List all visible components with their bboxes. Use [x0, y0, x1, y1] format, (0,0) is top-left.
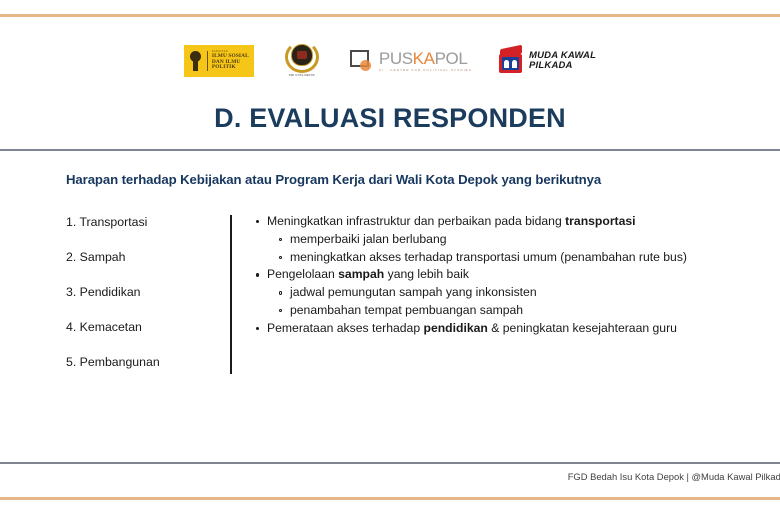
topic-item-5: 5. Pembangunan — [66, 355, 226, 369]
puskapol-name-part-1: PUS — [379, 49, 413, 68]
puskapol-wordmark: PUSKAPOL UI - CENTER FOR POLITICAL STUDI… — [379, 50, 472, 72]
orange-circle-icon — [360, 60, 371, 71]
fisip-ui-logo: FAKULTAS ILMU SOSIAL DAN ILMU POLITIK — [184, 45, 254, 77]
topic-item-4: 4. Kemacetan — [66, 320, 226, 334]
puskapol-name-part-3: POL — [435, 49, 468, 68]
footer-divider-rule — [0, 462, 780, 464]
slide-canvas: FAKULTAS ILMU SOSIAL DAN ILMU POLITIK PW… — [0, 0, 780, 516]
topic-item-2: 2. Sampah — [66, 250, 226, 264]
puskapol-square-icon — [350, 50, 374, 72]
muda-kawal-pilkada-logo: MUDA KAWAL PILKADA — [498, 47, 596, 75]
finding-subitem: memperbaiki jalan berlubang — [254, 231, 732, 248]
topic-list: 1. Transportasi 2. Sampah 3. Pendidikan … — [66, 215, 226, 374]
finding-subitem: jadwal pemungutan sampah yang inkonsiste… — [254, 284, 732, 301]
footer: FGD Bedah Isu Kota Depok | @Muda Kawal P… — [0, 471, 780, 482]
top-accent-rule — [0, 14, 780, 17]
bottom-accent-rule — [0, 497, 780, 500]
pwi-caption: PWI KOTA DEPOK — [289, 74, 315, 77]
fisip-line-3: POLITIK — [212, 65, 249, 71]
header-divider-rule — [0, 149, 780, 151]
logo-bar: FAKULTAS ILMU SOSIAL DAN ILMU POLITIK PW… — [0, 38, 780, 84]
shield-icon — [291, 44, 313, 66]
page-title: D. EVALUASI RESPONDEN — [0, 103, 780, 134]
puskapol-tagline: UI - CENTER FOR POLITICAL STUDIES — [379, 69, 472, 72]
puskapol-name-part-2: KA — [413, 49, 435, 68]
mkp-wordmark: MUDA KAWAL PILKADA — [529, 51, 596, 71]
topic-item-1: 1. Transportasi — [66, 215, 226, 229]
pwi-emblem-icon — [285, 41, 319, 73]
makara-icon — [187, 49, 204, 73]
puskapol-name: PUSKAPOL — [379, 50, 472, 67]
pwi-kota-depok-logo: PWI KOTA DEPOK — [280, 41, 324, 81]
finding-item: Meningkatkan infrastruktur dan perbaikan… — [254, 213, 732, 230]
findings-list: Meningkatkan infrastruktur dan perbaikan… — [254, 213, 732, 374]
puskapol-logo: PUSKAPOL UI - CENTER FOR POLITICAL STUDI… — [350, 50, 472, 72]
finding-subitem: penambahan tempat pembuangan sampah — [254, 302, 732, 319]
finding-subitem: meningkatkan akses terhadap transportasi… — [254, 249, 732, 266]
mkp-line-2: PILKADA — [529, 61, 596, 71]
topic-item-3: 3. Pendidikan — [66, 285, 226, 299]
ballot-box-icon — [498, 47, 524, 75]
fisip-logo-text: FAKULTAS ILMU SOSIAL DAN ILMU POLITIK — [207, 51, 249, 70]
content-area: 1. Transportasi 2. Sampah 3. Pendidikan … — [0, 215, 780, 374]
footer-text: FGD Bedah Isu Kota Depok | @Muda Kawal P… — [568, 471, 780, 482]
ballot-box-face — [502, 57, 519, 70]
finding-item: Pengelolaan sampah yang lebih baik — [254, 266, 732, 283]
vertical-divider — [230, 215, 232, 374]
section-subtitle: Harapan terhadap Kebijakan atau Program … — [66, 172, 740, 187]
finding-item: Pemerataan akses terhadap pendidikan & p… — [254, 320, 732, 337]
